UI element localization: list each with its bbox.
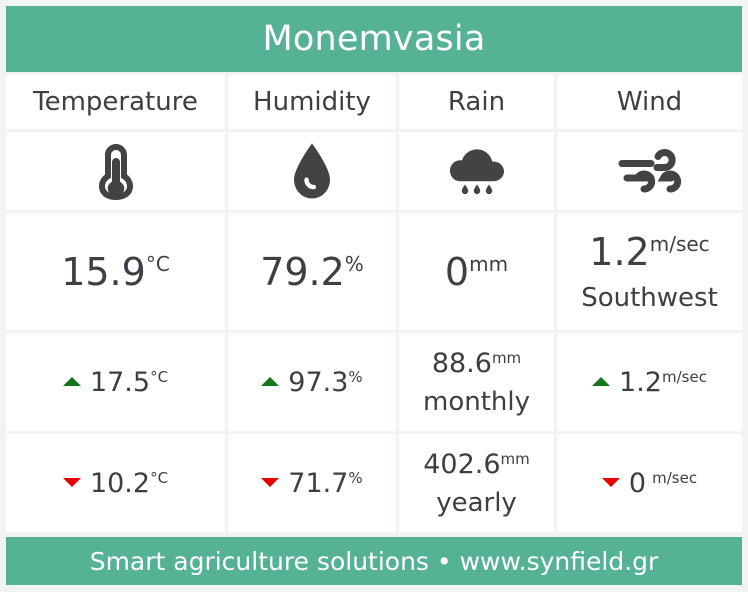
current-temperature-reading: 15.9 °C xyxy=(61,253,170,291)
current-wind-cell: 1.2 m/sec Southwest xyxy=(557,213,742,330)
unit: % xyxy=(348,471,362,486)
value: 71.7 xyxy=(288,470,348,497)
station-title: Monemvasia xyxy=(263,22,486,57)
value: 10.2 xyxy=(90,470,150,497)
current-temperature-cell: 15.9 °C xyxy=(6,213,225,330)
column-label: Rain xyxy=(448,89,505,115)
value: 17.5 xyxy=(90,369,150,396)
monthly-rain-reading: 88.6 mm xyxy=(432,350,521,377)
maximum-values-row: 17.5 °C 97.3 % 88.6 mm monthly xyxy=(6,333,742,431)
column-label: Humidity xyxy=(253,89,371,115)
monthly-rain-cell: 88.6 mm monthly xyxy=(399,333,554,431)
unit: mm xyxy=(501,452,530,467)
unit: m/sec xyxy=(650,234,710,254)
value: 15.9 xyxy=(61,253,146,291)
arrow-up-icon xyxy=(261,377,279,386)
minimum-values-row: 10.2 °C 71.7 % 402.6 mm yearly xyxy=(6,434,742,532)
column-header-rain: Rain xyxy=(399,75,554,129)
max-wind-reading: 1.2 m/sec xyxy=(592,369,707,396)
arrow-down-icon xyxy=(261,478,279,487)
column-header-humidity: Humidity xyxy=(228,75,396,129)
arrow-down-icon xyxy=(602,478,620,487)
value: 402.6 xyxy=(423,451,500,478)
icon-row xyxy=(6,132,742,210)
max-temperature-reading: 17.5 °C xyxy=(63,369,168,396)
yearly-rain-reading: 402.6 mm xyxy=(423,451,530,478)
unit: % xyxy=(348,370,362,385)
wind-icon xyxy=(617,147,683,195)
current-rain-cell: 0 mm xyxy=(399,213,554,330)
max-humidity-cell: 97.3 % xyxy=(228,333,396,431)
widget-footer: Smart agriculture solutions • www.synfie… xyxy=(6,537,742,585)
current-rain-reading: 0 mm xyxy=(445,253,508,291)
icon-cell-humidity xyxy=(228,132,396,210)
unit: m/sec xyxy=(652,471,697,486)
arrow-down-icon xyxy=(63,478,81,487)
arrow-up-icon xyxy=(63,377,81,386)
min-temperature-cell: 10.2 °C xyxy=(6,434,225,532)
current-humidity-cell: 79.2 % xyxy=(228,213,396,330)
value: 0 xyxy=(445,253,469,291)
max-humidity-reading: 97.3 % xyxy=(261,369,362,396)
unit: °C xyxy=(150,370,168,385)
unit: °C xyxy=(146,254,170,274)
footer-tagline: Smart agriculture solutions • www.synfie… xyxy=(90,549,659,574)
column-header-wind: Wind xyxy=(557,75,742,129)
min-humidity-reading: 71.7 % xyxy=(261,470,362,497)
min-wind-reading: 0 m/sec xyxy=(602,470,697,497)
column-header-temperature: Temperature xyxy=(6,75,225,129)
rain-period-label: monthly xyxy=(423,389,530,415)
min-temperature-reading: 10.2 °C xyxy=(63,470,168,497)
icon-cell-wind xyxy=(557,132,742,210)
yearly-rain-cell: 402.6 mm yearly xyxy=(399,434,554,532)
arrow-up-icon xyxy=(592,377,610,386)
rain-period-label: yearly xyxy=(436,490,517,516)
column-header-row: Temperature Humidity Rain Wind xyxy=(6,75,742,129)
weather-widget: Monemvasia Temperature Humidity Rain Win… xyxy=(0,0,748,592)
value: 79.2 xyxy=(260,253,345,291)
unit: mm xyxy=(492,351,521,366)
column-label: Temperature xyxy=(33,89,198,115)
current-humidity-reading: 79.2 % xyxy=(260,253,364,291)
widget-header: Monemvasia xyxy=(6,6,742,72)
unit: % xyxy=(345,254,364,274)
unit: °C xyxy=(150,471,168,486)
icon-cell-temperature xyxy=(6,132,225,210)
measurements-grid: Temperature Humidity Rain Wind xyxy=(0,72,748,534)
value: 1.2 xyxy=(619,369,662,396)
current-values-row: 15.9 °C 79.2 % 0 mm 1.2 m/sec xyxy=(6,213,742,330)
min-humidity-cell: 71.7 % xyxy=(228,434,396,532)
water-drop-icon xyxy=(289,142,335,200)
wind-direction: Southwest xyxy=(581,285,718,311)
value: 1.2 xyxy=(589,233,649,271)
max-temperature-cell: 17.5 °C xyxy=(6,333,225,431)
current-wind-reading: 1.2 m/sec xyxy=(589,233,709,271)
value: 0 xyxy=(629,470,646,497)
unit: m/sec xyxy=(662,370,707,385)
unit: mm xyxy=(469,254,508,274)
min-wind-cell: 0 m/sec xyxy=(557,434,742,532)
value: 88.6 xyxy=(432,350,492,377)
value: 97.3 xyxy=(288,369,348,396)
icon-cell-rain xyxy=(399,132,554,210)
column-label: Wind xyxy=(617,89,682,115)
max-wind-cell: 1.2 m/sec xyxy=(557,333,742,431)
thermometer-icon xyxy=(93,142,139,200)
rain-cloud-icon xyxy=(448,144,506,198)
